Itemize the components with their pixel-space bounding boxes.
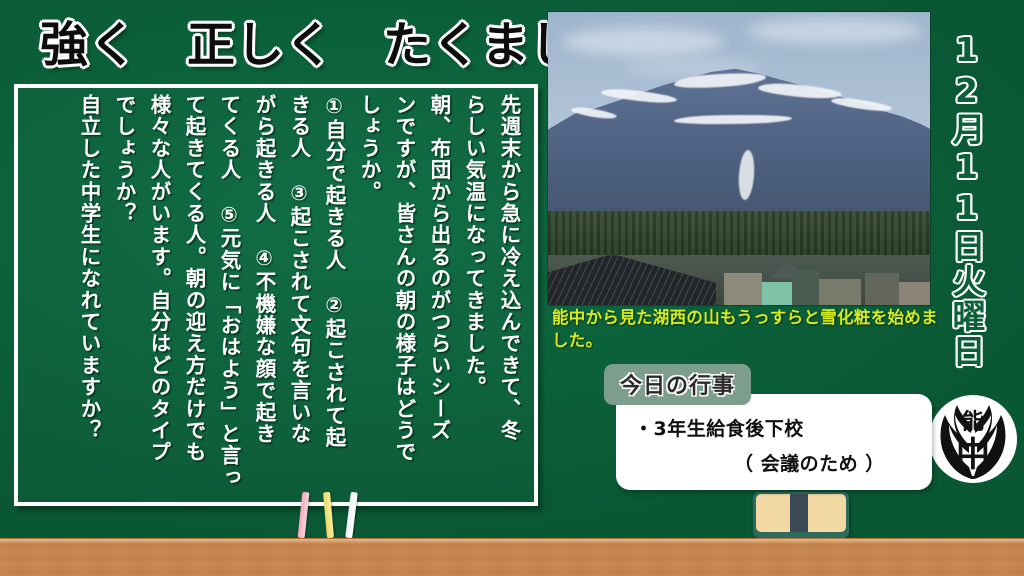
event-item: （ 会議のため ）: [734, 449, 885, 476]
eraser-felt: [756, 494, 846, 532]
building: [865, 273, 899, 305]
article-column: てくる人 ⑤元気に「おはよう」と言っ: [211, 94, 246, 496]
chalkboard-eraser: [753, 492, 849, 538]
emblem-bottom-char: 中: [927, 427, 1019, 476]
building: [792, 270, 819, 305]
article-column: しょうか。: [351, 94, 386, 496]
photo-scene: [548, 12, 930, 305]
article-column: 先週末から急に冷え込んできて、冬: [491, 94, 526, 496]
slide-canvas: 強く 正しく たくましく 先週末から急に冷え込んできて、冬 らしい気温になってき…: [0, 0, 1024, 576]
article-column: て起きてくる人。朝の迎え方だけでも: [176, 94, 211, 496]
building: [724, 273, 762, 305]
date-label: 12月11日火曜日: [944, 30, 988, 369]
school-emblem-icon: 能 中: [927, 393, 1019, 485]
article-panel: 先週末から急に冷え込んできて、冬 らしい気温になってきました。 朝、布団から出る…: [14, 84, 538, 506]
building: [762, 282, 793, 305]
cloud: [563, 27, 723, 56]
article-column: ンですが、皆さんの朝の様子はどうで: [386, 94, 421, 496]
cloud: [747, 18, 923, 44]
article-column: らしい気温になってきました。: [456, 94, 491, 496]
article-column: ①自分で起きる人 ②起こされて起: [316, 94, 351, 496]
article-column: でしょうか？: [106, 94, 141, 496]
article-column: きる人 ③起こされて文句を言いな: [281, 94, 316, 496]
article-column: 自立した中学生になれていますか？: [71, 94, 106, 496]
chalk-tray-ledge: [0, 538, 1024, 576]
forest-band: [548, 211, 930, 258]
article-column: 様々な人がいます。自分はどのタイプ: [141, 94, 176, 496]
building: [899, 282, 930, 305]
article-column: 朝、布団から出るのがつらいシーズ: [421, 94, 456, 496]
photo-caption: 能中から見た湖西の山もうっすらと雪化粧を始めました。: [552, 306, 942, 352]
page-title: 強く 正しく たくましく: [40, 14, 540, 76]
mountain-photo: [548, 12, 930, 305]
events-tab-label: 今日の行事: [604, 364, 751, 405]
article-column: がら起きる人 ④不機嫌な顔で起き: [246, 94, 281, 496]
article-columns: 先週末から急に冷え込んできて、冬 らしい気温になってきました。 朝、布団から出る…: [26, 94, 526, 496]
building: [819, 279, 861, 305]
event-item: ・3年生給食後下校: [634, 414, 804, 441]
events-box: ・3年生給食後下校 （ 会議のため ）: [616, 394, 932, 490]
